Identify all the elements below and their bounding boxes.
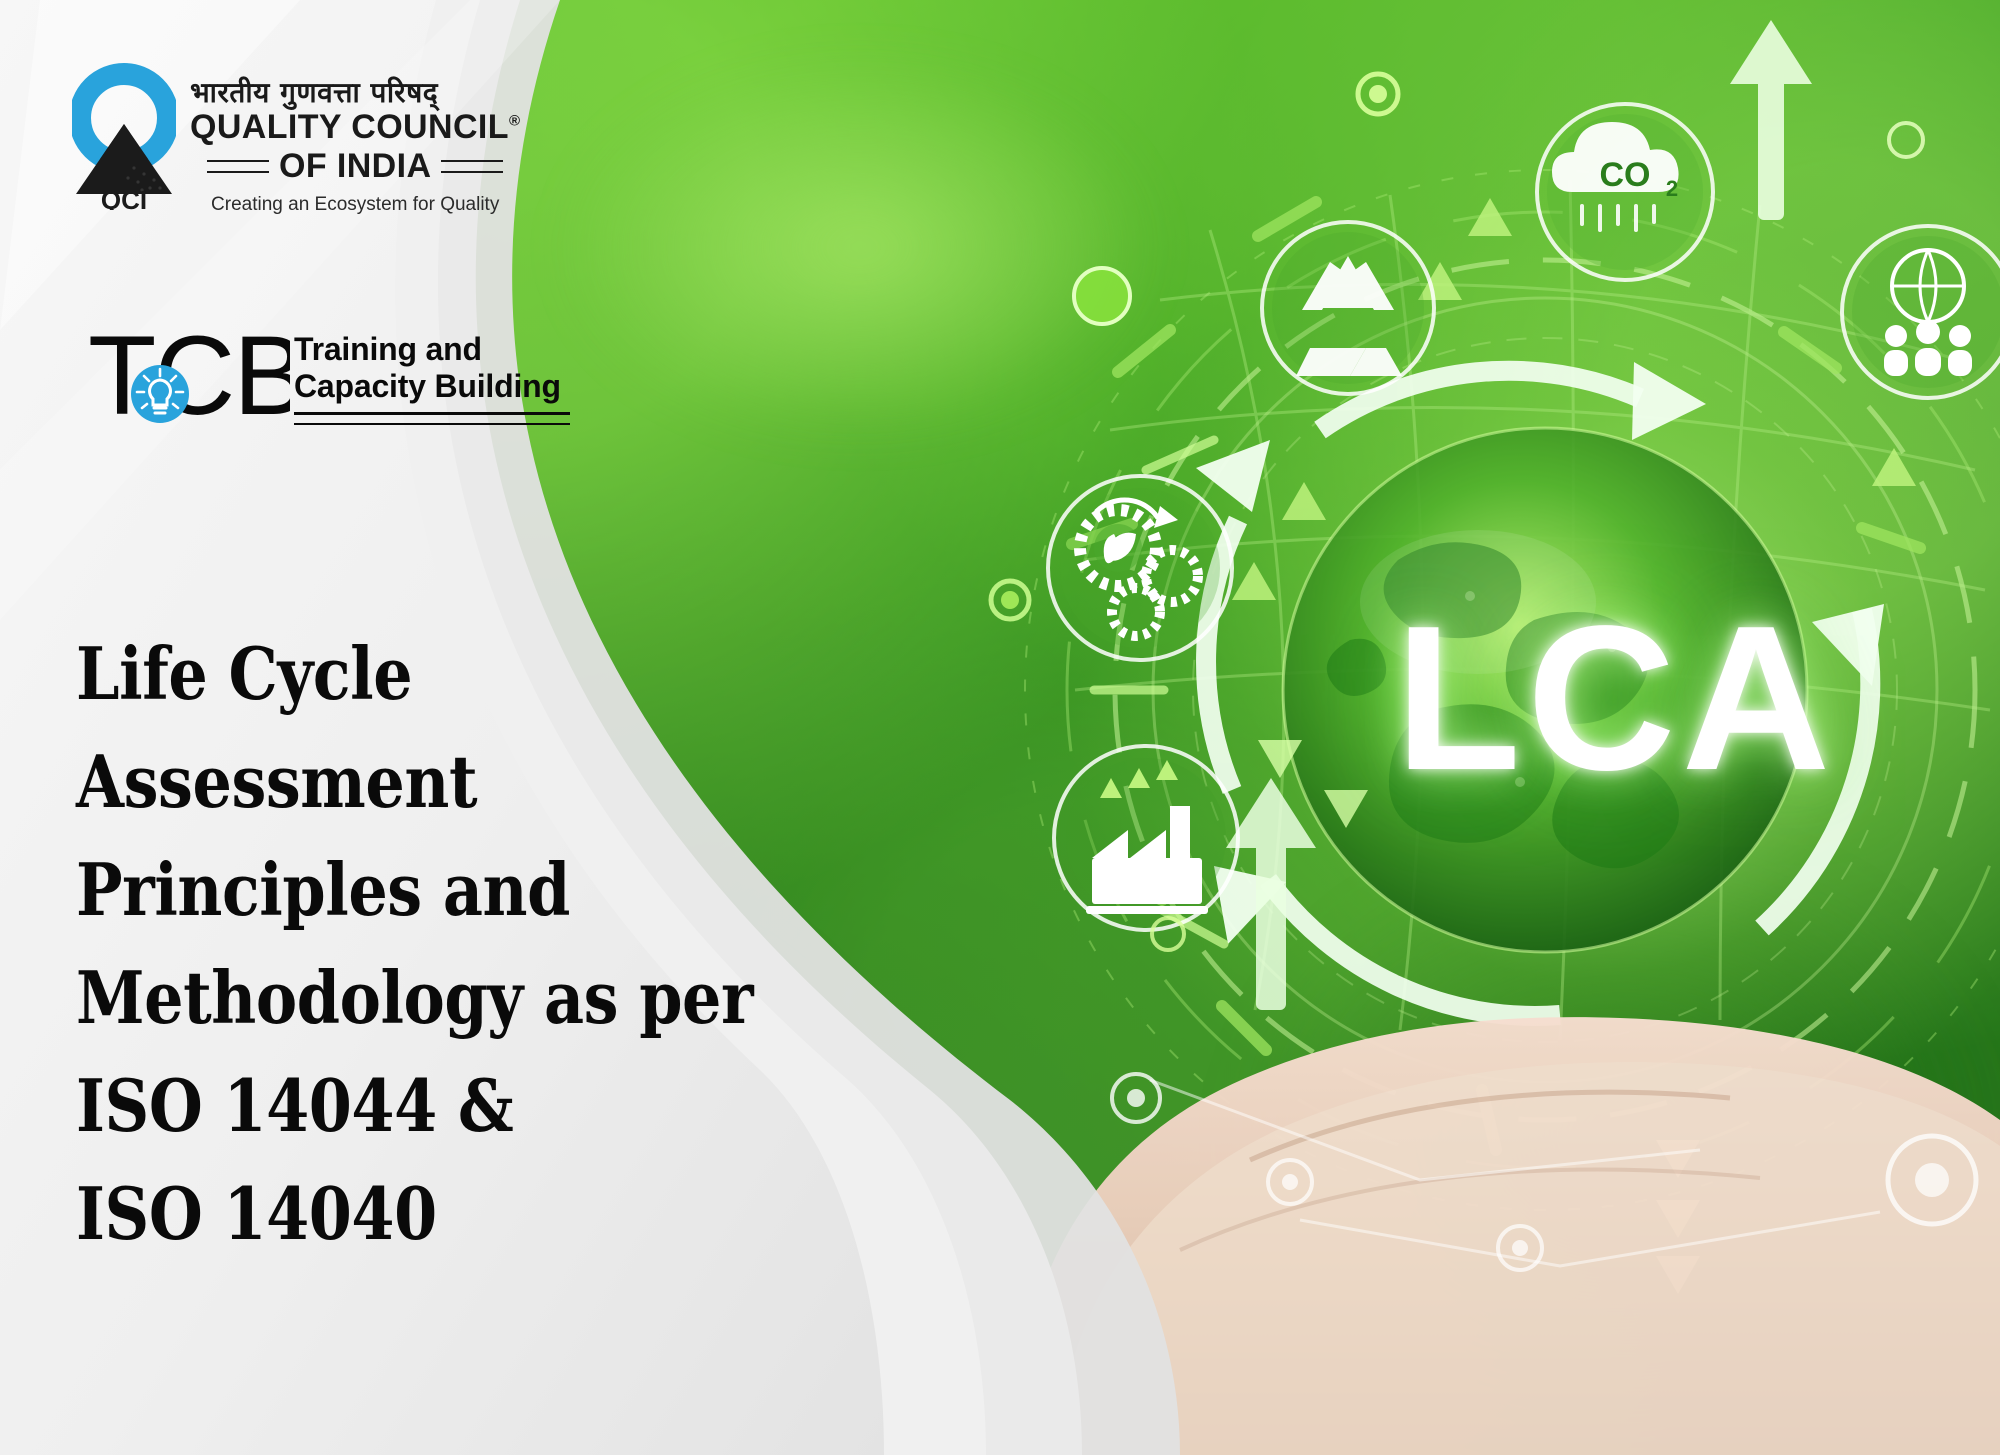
qci-wordmark: भारतीय गुणवत्ता परिषद् QUALITY COUNCIL® … bbox=[190, 62, 520, 216]
qci-of-india-row: OF INDIA bbox=[190, 147, 520, 186]
page-title: Life Cycle Assessment Principles and Met… bbox=[76, 620, 712, 1268]
qci-logo[interactable]: QCI भारतीय गुणवत्ता परिषद् QUALITY COUNC… bbox=[72, 62, 520, 216]
people-globe-icon bbox=[1842, 226, 2000, 398]
title-line-4: Methodology as per bbox=[76, 944, 712, 1052]
svg-text:CO: CO bbox=[1600, 156, 1651, 194]
qci-of-india: OF INDIA bbox=[279, 147, 431, 186]
tcb-line-2: Capacity Building bbox=[294, 368, 570, 405]
qci-hindi-name: भारतीय गुणवत्ता परिषद् bbox=[190, 78, 520, 107]
rule-left bbox=[207, 160, 269, 173]
co2-cloud-icon: CO 2 bbox=[1537, 104, 1713, 280]
qci-name-text: QUALITY COUNCIL bbox=[190, 108, 509, 146]
title-line-2: Assessment bbox=[76, 728, 712, 836]
lca-headline: LCA bbox=[1395, 595, 1836, 801]
tcb-logo[interactable]: TCB Training and Capacity Building bbox=[88, 322, 570, 434]
banner-root: CO 2 bbox=[0, 0, 2000, 1455]
svg-text:QCI: QCI bbox=[101, 185, 147, 210]
rule-right bbox=[441, 160, 503, 173]
qci-q-mountain-mark-icon: QCI bbox=[72, 62, 176, 210]
recycle-icon bbox=[1262, 222, 1434, 394]
tcb-wordmark: Training and Capacity Building bbox=[294, 331, 570, 425]
gears-leaf-icon bbox=[1048, 476, 1232, 660]
qci-english-name: QUALITY COUNCIL® bbox=[190, 109, 520, 145]
registered-trademark-icon: ® bbox=[509, 113, 520, 130]
svg-text:2: 2 bbox=[1666, 176, 1678, 201]
left-content: QCI भारतीय गुणवत्ता परिषद् QUALITY COUNC… bbox=[0, 0, 860, 1455]
title-line-5: ISO 14044 & bbox=[76, 1052, 712, 1160]
svg-text:TCB: TCB bbox=[88, 322, 290, 434]
factory-icon bbox=[1054, 746, 1238, 930]
qci-tagline: Creating an Ecosystem for Quality bbox=[190, 194, 520, 216]
tcb-double-underline bbox=[294, 412, 570, 425]
title-line-3: Principles and bbox=[76, 836, 712, 944]
title-line-1: Life Cycle bbox=[76, 620, 712, 728]
tcb-lettermark-icon: TCB bbox=[88, 322, 290, 434]
tcb-line-1: Training and bbox=[294, 331, 570, 368]
open-hand bbox=[1019, 1017, 2000, 1455]
title-line-6: ISO 14040 bbox=[76, 1160, 712, 1268]
